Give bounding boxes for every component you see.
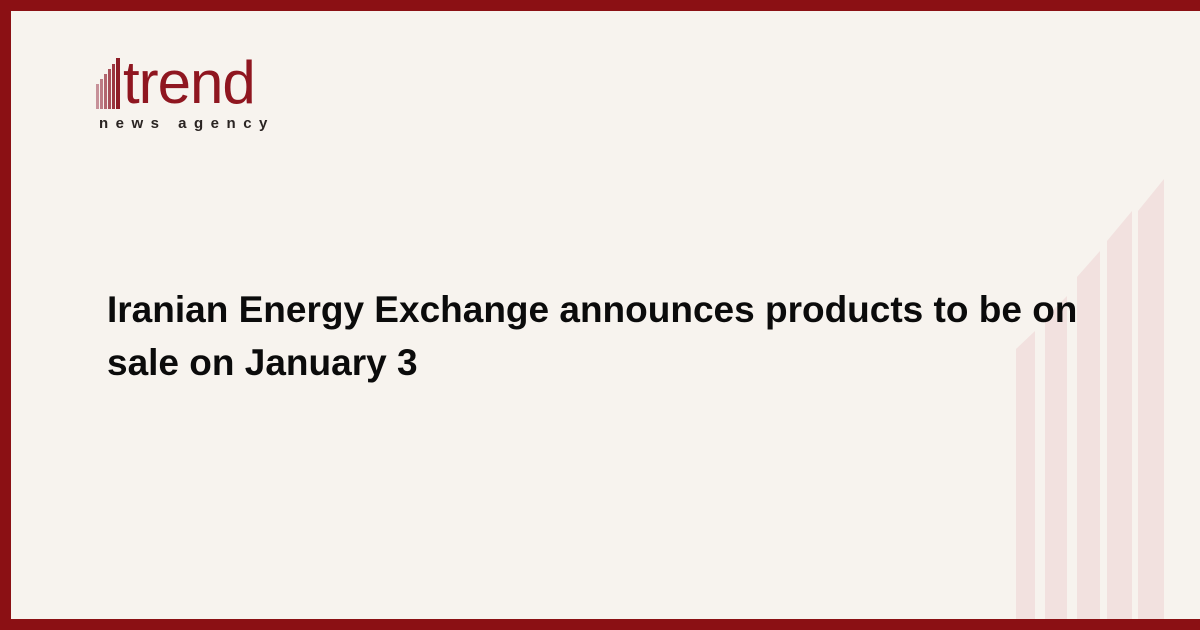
logo-bar-2 <box>100 79 103 109</box>
logo-bar-6 <box>116 58 120 109</box>
logo-tagline: news agency <box>99 115 396 132</box>
logo-wordmark: trend <box>123 57 255 109</box>
logo-bar-3 <box>104 74 107 109</box>
article-headline: Iranian Energy Exchange announces produc… <box>107 283 1092 389</box>
watermark-bar-4 <box>1107 211 1132 619</box>
watermark-bar-5 <box>1138 179 1164 619</box>
logo-bar-1 <box>96 84 99 109</box>
trend-news-agency-logo[interactable]: trend news agency <box>96 49 396 132</box>
logo-bar-4 <box>108 69 111 109</box>
rising-bars-icon <box>96 57 122 109</box>
news-share-card: trend news agency Iranian Energy Exchang… <box>0 0 1200 630</box>
logo-bar-5 <box>112 64 115 109</box>
logo-wordmark-row: trend <box>96 49 396 109</box>
